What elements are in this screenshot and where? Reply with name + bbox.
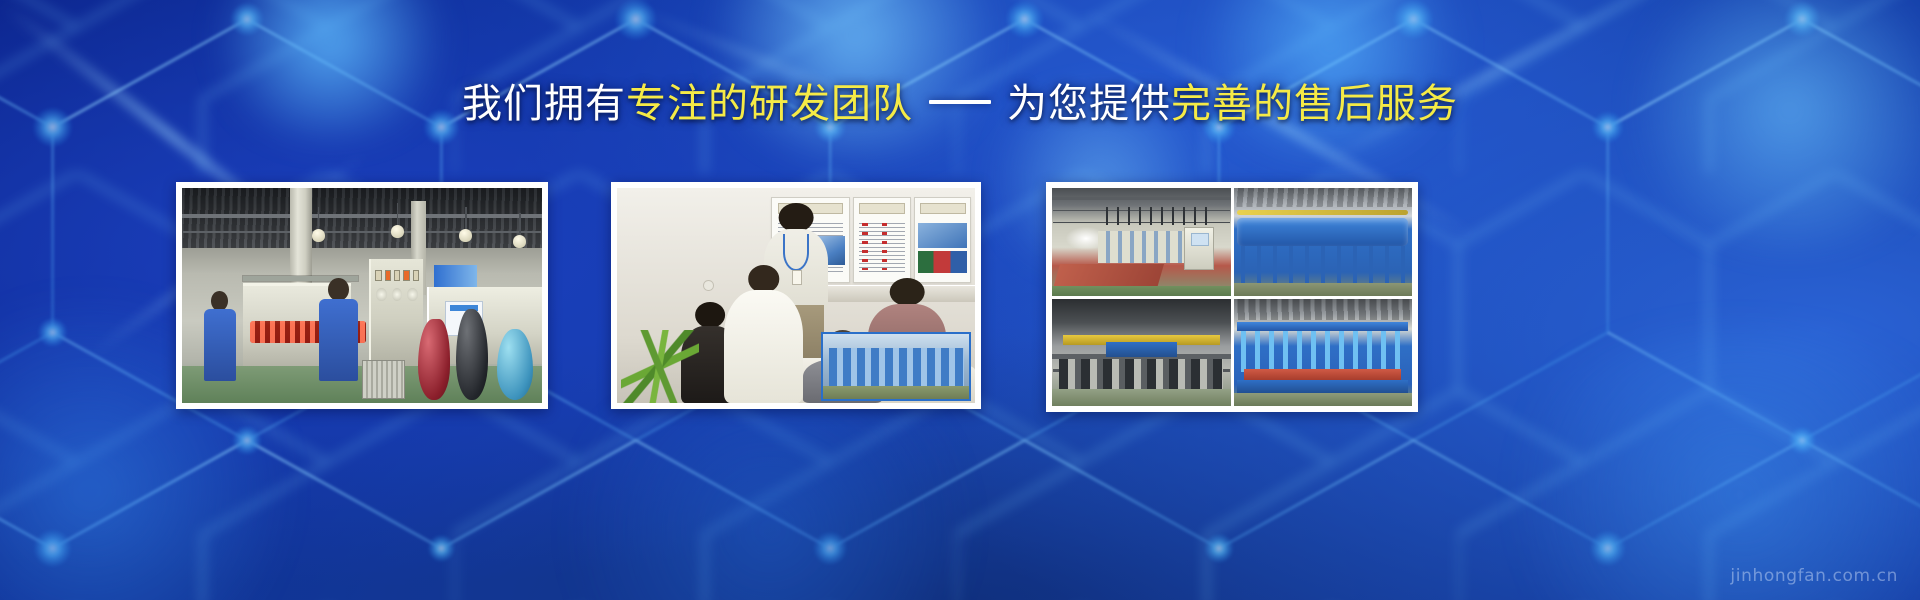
wall-outlet-icon bbox=[703, 280, 714, 291]
workshop-cell-coating-line bbox=[1052, 188, 1231, 296]
photo-production-line bbox=[182, 188, 542, 403]
factory-roof bbox=[182, 188, 542, 248]
pendant-lamp-icon bbox=[312, 229, 325, 242]
factory-worker bbox=[319, 278, 359, 381]
finished-vase-group bbox=[416, 304, 538, 403]
pendant-lamp-icon bbox=[391, 225, 404, 238]
photo-frame-production-line[interactable] bbox=[176, 182, 548, 409]
foreground-plant bbox=[621, 330, 700, 403]
promotional-banner: 我们拥有专注的研发团队为您提供完善的售后服务 bbox=[0, 0, 1920, 600]
certificate-poster bbox=[853, 197, 910, 283]
workshop-cell-hanger-conveyor bbox=[1234, 299, 1413, 407]
panel-buttons bbox=[375, 267, 419, 285]
photo-workshop-grid bbox=[1052, 188, 1412, 406]
equipment-inset-photo bbox=[821, 332, 971, 401]
photo-customer-meeting bbox=[617, 188, 975, 403]
photo-frame-customer-meeting[interactable] bbox=[611, 182, 981, 409]
workshop-cell-drying-tunnel bbox=[1234, 188, 1413, 296]
plastic-crate bbox=[362, 360, 405, 399]
headline-segment-4: 完善的售后服务 bbox=[1171, 82, 1458, 126]
headline-segment-1: 我们拥有 bbox=[462, 82, 626, 126]
workshop-cell-overhead-crane bbox=[1052, 299, 1231, 407]
red-vase bbox=[418, 319, 450, 400]
photo-gallery bbox=[0, 182, 1920, 412]
attendee-person bbox=[724, 265, 803, 403]
banner-headline: 我们拥有专注的研发团队为您提供完善的售后服务 bbox=[0, 80, 1920, 128]
headline-dash-divider bbox=[929, 100, 991, 104]
panel-meters bbox=[376, 288, 418, 301]
factory-worker bbox=[204, 291, 236, 381]
site-watermark: jinhongfan.com.cn bbox=[1730, 566, 1898, 586]
blue-vase bbox=[497, 329, 534, 400]
roof-truss bbox=[182, 214, 542, 218]
headline-segment-3: 为您提供 bbox=[1007, 82, 1171, 126]
machine-label bbox=[434, 265, 477, 287]
black-vase bbox=[456, 309, 488, 400]
pendant-lamp-icon bbox=[459, 229, 472, 242]
photo-frame-workshop-grid[interactable] bbox=[1046, 182, 1418, 412]
headline-segment-2: 专注的研发团队 bbox=[626, 82, 913, 126]
showcase-poster bbox=[914, 197, 971, 283]
